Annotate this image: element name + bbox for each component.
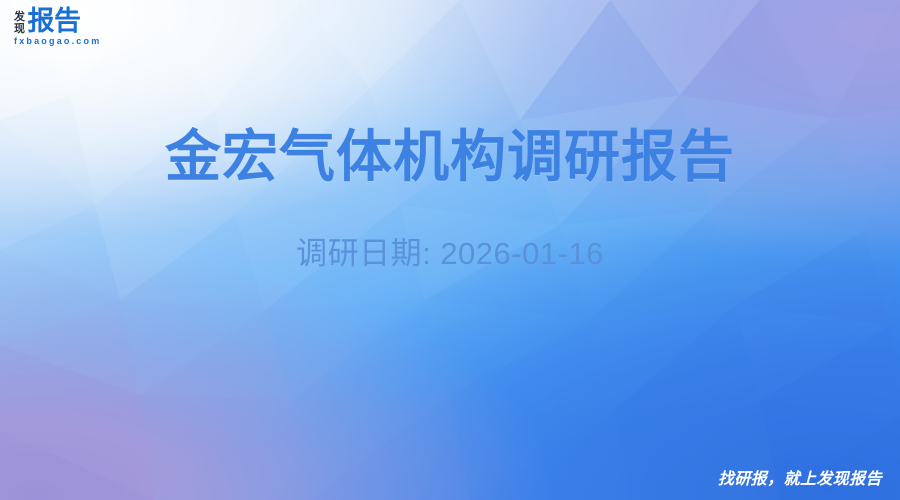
survey-date-subtitle: 调研日期: 2026-01-16 [0, 234, 900, 274]
logo-mark: 发 现 报告 [14, 9, 81, 35]
footer-tagline: 找研报，就上发现报告 [718, 468, 882, 490]
report-cover: 发 现 报告 fxbaogao.com 金宏气体机构调研报告 调研日期: 202… [0, 0, 900, 500]
page-title: 金宏气体机构调研报告 [0, 124, 900, 192]
brand-logo[interactable]: 发 现 报告 [14, 9, 81, 35]
logo-domain-text: fxbaogao.com [14, 36, 101, 46]
logo-wordmark: 报告 [28, 9, 81, 35]
logo-char-bottom: 现 [14, 23, 25, 35]
logo-stacked-characters: 发 现 [14, 9, 25, 34]
logo-char-top: 发 [14, 11, 25, 23]
